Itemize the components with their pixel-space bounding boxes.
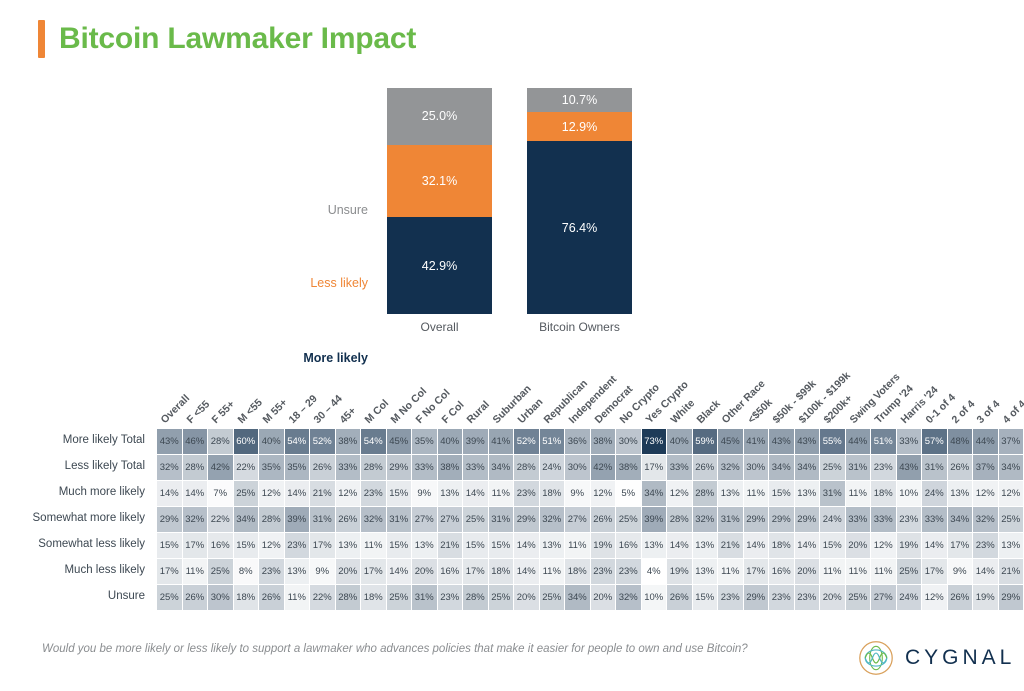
title-accent-bar [38, 20, 45, 58]
heatmap-cell[interactable]: 35% [259, 455, 284, 480]
bar-category-label: Overall [387, 320, 492, 334]
bar-segment-more-likely[interactable]: 42.9% [387, 217, 492, 314]
heatmap-cell[interactable]: 31% [310, 507, 335, 532]
heatmap-cell[interactable]: 34% [795, 455, 820, 480]
heatmap-cell[interactable]: 37% [999, 429, 1024, 454]
heatmap-cell[interactable]: 11% [820, 559, 845, 584]
heatmap-grid: OverallF <55F 55+M <55M 55+18 – 2930 – 4… [156, 427, 1024, 611]
heatmap-cell[interactable]: 31% [412, 585, 437, 610]
heatmap-cell[interactable]: 14% [795, 533, 820, 558]
heatmap-row-label: More likely Total [0, 427, 152, 453]
heatmap-cell[interactable]: 29% [795, 507, 820, 532]
heatmap-cell[interactable]: 12% [999, 481, 1024, 506]
bar-segment-less-likely[interactable]: 32.1% [387, 145, 492, 218]
heatmap-cell[interactable]: 33% [667, 455, 692, 480]
heatmap-cell[interactable]: 25% [616, 507, 641, 532]
heatmap-cell[interactable]: 32% [183, 507, 208, 532]
heatmap-cell[interactable]: 43% [157, 429, 182, 454]
heatmap-cell[interactable]: 31% [387, 507, 412, 532]
heatmap-cell[interactable]: 16% [208, 533, 233, 558]
heatmap-cell[interactable]: 10% [897, 481, 922, 506]
heatmap-cell[interactable]: 30% [208, 585, 233, 610]
waveform-circle-icon [858, 640, 894, 676]
heatmap-col-header-label: M <55 [235, 397, 264, 426]
table-row: 43%46%28%60%40%54%52%38%54%45%35%40%39%4… [157, 429, 1023, 454]
heatmap-cell[interactable]: 14% [744, 533, 769, 558]
bar-group-overall: 25.0% 32.1% 42.9% Overall [387, 88, 492, 314]
heatmap-cell[interactable]: 48% [948, 429, 973, 454]
table-row: 14%14%7%25%12%14%21%12%23%15%9%13%14%11%… [157, 481, 1023, 506]
heatmap-cell[interactable]: 7% [208, 481, 233, 506]
heatmap-cell[interactable]: 22% [310, 585, 335, 610]
heatmap-cell[interactable]: 13% [948, 481, 973, 506]
heatmap-cell[interactable]: 17% [361, 559, 386, 584]
heatmap-cell[interactable]: 51% [540, 429, 565, 454]
heatmap-cell[interactable]: 28% [336, 585, 361, 610]
heatmap-cell[interactable]: 34% [769, 455, 794, 480]
heatmap-cell[interactable]: 29% [514, 507, 539, 532]
title-bar: Bitcoin Lawmaker Impact [38, 20, 416, 58]
heatmap-cell[interactable]: 34% [948, 507, 973, 532]
heatmap-cell[interactable]: 43% [769, 429, 794, 454]
heatmap-cell[interactable]: 9% [310, 559, 335, 584]
heatmap-cell[interactable]: 54% [361, 429, 386, 454]
heatmap-cell[interactable]: 11% [285, 585, 310, 610]
heatmap-cell[interactable]: 20% [591, 585, 616, 610]
heatmap-cell[interactable]: 28% [693, 481, 718, 506]
heatmap-cell[interactable]: 32% [973, 507, 998, 532]
heatmap-cell[interactable]: 26% [310, 455, 335, 480]
heatmap-cell[interactable]: 25% [489, 585, 514, 610]
heatmap-row-label: Much less likely [0, 557, 152, 583]
heatmap-cell[interactable]: 44% [973, 429, 998, 454]
heatmap-cell[interactable]: 20% [336, 559, 361, 584]
heatmap-cell[interactable]: 14% [973, 559, 998, 584]
heatmap-cell[interactable]: 5% [616, 481, 641, 506]
heatmap-cell[interactable]: 15% [489, 533, 514, 558]
bar-value-unsure: 10.7% [562, 93, 597, 107]
heatmap-cell[interactable]: 18% [565, 559, 590, 584]
heatmap-cell[interactable]: 59% [693, 429, 718, 454]
heatmap-cell[interactable]: 13% [438, 481, 463, 506]
heatmap-cell[interactable]: 30% [744, 455, 769, 480]
heatmap-cell[interactable]: 25% [463, 507, 488, 532]
heatmap-col-header-label: Rural [465, 399, 492, 426]
heatmap-cell[interactable]: 14% [922, 533, 947, 558]
heatmap-cell[interactable]: 23% [514, 481, 539, 506]
heatmap-cell[interactable]: 33% [412, 455, 437, 480]
heatmap-cell[interactable]: 17% [744, 559, 769, 584]
heatmap-cell[interactable]: 15% [820, 533, 845, 558]
heatmap-cell[interactable]: 23% [591, 559, 616, 584]
legend-label-less-likely: Less likely [310, 276, 368, 290]
heatmap-cell[interactable]: 38% [438, 455, 463, 480]
heatmap-cell[interactable]: 12% [259, 533, 284, 558]
heatmap-cell[interactable]: 43% [795, 429, 820, 454]
heatmap-cell[interactable]: 31% [718, 507, 743, 532]
heatmap-cell[interactable]: 29% [744, 507, 769, 532]
heatmap-cell[interactable]: 18% [234, 585, 259, 610]
heatmap-cell[interactable]: 33% [897, 429, 922, 454]
heatmap-cell[interactable]: 30% [565, 455, 590, 480]
heatmap-cell[interactable]: 14% [387, 559, 412, 584]
heatmap-cell[interactable]: 18% [769, 533, 794, 558]
heatmap-cell[interactable]: 25% [234, 481, 259, 506]
heatmap-cell[interactable]: 18% [361, 585, 386, 610]
heatmap-cell[interactable]: 26% [948, 585, 973, 610]
heatmap-body: 43%46%28%60%40%54%52%38%54%45%35%40%39%4… [157, 429, 1023, 610]
heatmap-cell[interactable]: 34% [642, 481, 667, 506]
bar-value-less-likely: 32.1% [422, 174, 457, 188]
legend-label-more-likely: More likely [303, 351, 368, 365]
heatmap-cell[interactable]: 31% [922, 455, 947, 480]
heatmap-cell[interactable]: 12% [259, 481, 284, 506]
heatmap-cell[interactable]: 23% [769, 585, 794, 610]
heatmap-cell[interactable]: 43% [897, 455, 922, 480]
legend-label-unsure: Unsure [328, 203, 368, 217]
heatmap-cell[interactable]: 17% [948, 533, 973, 558]
heatmap-cell[interactable]: 11% [565, 533, 590, 558]
heatmap-cell[interactable]: 23% [285, 533, 310, 558]
heatmap-cell[interactable]: 14% [514, 559, 539, 584]
heatmap-cell[interactable]: 30% [616, 429, 641, 454]
question-footnote: Would you be more likely or less likely … [42, 641, 832, 658]
heatmap-cell[interactable]: 34% [234, 507, 259, 532]
heatmap-cell[interactable]: 9% [948, 559, 973, 584]
heatmap-cell[interactable]: 40% [438, 429, 463, 454]
heatmap-cell[interactable]: 38% [336, 429, 361, 454]
heatmap-cell[interactable]: 41% [744, 429, 769, 454]
heatmap-cell[interactable]: 28% [514, 455, 539, 480]
heatmap-cell[interactable]: 14% [463, 481, 488, 506]
heatmap-cell[interactable]: 14% [667, 533, 692, 558]
table-row: 32%28%42%22%35%35%26%33%28%29%33%38%33%3… [157, 455, 1023, 480]
bar-value-more-likely: 42.9% [422, 259, 457, 273]
heatmap-cell[interactable]: 12% [336, 481, 361, 506]
heatmap-cell[interactable]: 21% [718, 533, 743, 558]
heatmap-cell[interactable]: 15% [463, 533, 488, 558]
heatmap-cell[interactable]: 11% [846, 481, 871, 506]
heatmap-cell[interactable]: 33% [336, 455, 361, 480]
heatmap-cell[interactable]: 13% [693, 559, 718, 584]
heatmap-cell[interactable]: 8% [234, 559, 259, 584]
heatmap-cell[interactable]: 23% [871, 455, 896, 480]
heatmap-cell[interactable]: 26% [259, 585, 284, 610]
heatmap-cell[interactable]: 26% [183, 585, 208, 610]
heatmap-cell[interactable]: 45% [387, 429, 412, 454]
heatmap-cell[interactable]: 24% [820, 507, 845, 532]
heatmap-cell[interactable]: 11% [540, 559, 565, 584]
stacked-bar-chart: Unsure Less likely More likely 25.0% 32.… [250, 88, 770, 338]
heatmap-cell[interactable]: 15% [387, 533, 412, 558]
bar-segment-unsure[interactable]: 25.0% [387, 88, 492, 145]
heatmap-cell[interactable]: 15% [157, 533, 182, 558]
table-row: 29%32%22%34%28%39%31%26%32%31%27%27%25%3… [157, 507, 1023, 532]
heatmap-col-header-label: F 55+ [210, 398, 238, 426]
heatmap-col-header-label: 4 of 4 [1000, 398, 1024, 426]
heatmap-cell[interactable]: 12% [871, 533, 896, 558]
heatmap-cell[interactable]: 39% [642, 507, 667, 532]
heatmap-cell[interactable]: 27% [871, 585, 896, 610]
heatmap-cell[interactable]: 31% [820, 481, 845, 506]
heatmap-cell[interactable]: 23% [616, 559, 641, 584]
table-row: 15%17%16%15%12%23%17%13%11%15%13%21%15%1… [157, 533, 1023, 558]
heatmap-cell[interactable]: 16% [769, 559, 794, 584]
heatmap-cell[interactable]: 23% [897, 507, 922, 532]
heatmap-cell[interactable]: 23% [259, 559, 284, 584]
heatmap-cell[interactable]: 37% [973, 455, 998, 480]
table-row: 17%11%25%8%23%13%9%20%17%14%20%16%17%18%… [157, 559, 1023, 584]
heatmap-cell[interactable]: 31% [489, 507, 514, 532]
heatmap-cell[interactable]: 19% [667, 559, 692, 584]
heatmap-cell[interactable]: 25% [157, 585, 182, 610]
heatmap-cell[interactable]: 42% [208, 455, 233, 480]
heatmap-cell[interactable]: 18% [540, 481, 565, 506]
bar-category-label: Bitcoin Owners [527, 320, 632, 334]
heatmap-cell[interactable]: 25% [540, 585, 565, 610]
heatmap-cell[interactable]: 46% [183, 429, 208, 454]
heatmap-cell[interactable]: 22% [234, 455, 259, 480]
page-title: Bitcoin Lawmaker Impact [59, 22, 416, 56]
heatmap-cell[interactable]: 32% [718, 455, 743, 480]
heatmap-cell[interactable]: 12% [591, 481, 616, 506]
heatmap-cell[interactable]: 19% [897, 533, 922, 558]
heatmap-cell[interactable]: 25% [846, 585, 871, 610]
heatmap-cell[interactable]: 22% [208, 507, 233, 532]
heatmap-cell[interactable]: 25% [897, 559, 922, 584]
heatmap-cell[interactable]: 17% [183, 533, 208, 558]
heatmap-cell[interactable]: 18% [871, 481, 896, 506]
heatmap-cell[interactable]: 4% [642, 559, 667, 584]
heatmap-cell[interactable]: 12% [667, 481, 692, 506]
heatmap-cell[interactable]: 33% [922, 507, 947, 532]
heatmap-cell[interactable]: 32% [361, 507, 386, 532]
heatmap-row-label: Somewhat more likely [0, 505, 152, 531]
heatmap-cell[interactable]: 52% [310, 429, 335, 454]
bar-segment-unsure[interactable]: 10.7% [527, 88, 632, 112]
heatmap-cell[interactable]: 15% [234, 533, 259, 558]
heatmap-cell[interactable]: 34% [489, 455, 514, 480]
bar-segment-less-likely[interactable]: 12.9% [527, 112, 632, 141]
heatmap-cell[interactable]: 26% [693, 455, 718, 480]
heatmap-cell[interactable]: 13% [412, 533, 437, 558]
heatmap-cell[interactable]: 40% [667, 429, 692, 454]
heatmap-row-label: Unsure [0, 583, 152, 609]
heatmap-cell[interactable]: 11% [183, 559, 208, 584]
heatmap-cell[interactable]: 28% [361, 455, 386, 480]
heatmap-cell[interactable]: 41% [489, 429, 514, 454]
heatmap-cell[interactable]: 28% [667, 507, 692, 532]
heatmap-cell[interactable]: 23% [718, 585, 743, 610]
heatmap-cell[interactable]: 15% [693, 585, 718, 610]
heatmap-cell[interactable]: 36% [565, 429, 590, 454]
brand-logo: CYGNAL [858, 640, 1015, 676]
bar-group-bitcoin-owners: 10.7% 12.9% 76.4% Bitcoin Owners [527, 88, 632, 314]
heatmap-cell[interactable]: 10% [642, 585, 667, 610]
heatmap-cell[interactable]: 13% [336, 533, 361, 558]
heatmap-cell[interactable]: 17% [157, 559, 182, 584]
heatmap-row-label: Less likely Total [0, 453, 152, 479]
heatmap-cell[interactable]: 40% [259, 429, 284, 454]
series-legend: Unsure Less likely More likely [250, 88, 368, 318]
heatmap-cell[interactable]: 33% [846, 507, 871, 532]
heatmap-cell[interactable]: 54% [285, 429, 310, 454]
heatmap-cell[interactable]: 25% [999, 507, 1024, 532]
heatmap-cell[interactable]: 28% [208, 429, 233, 454]
heatmap-table: OverallF <55F 55+M <55M 55+18 – 2930 – 4… [156, 427, 1024, 611]
heatmap-cell[interactable]: 13% [693, 533, 718, 558]
heatmap-cell[interactable]: 73% [642, 429, 667, 454]
table-row: 25%26%30%18%26%11%22%28%18%25%31%23%28%2… [157, 585, 1023, 610]
heatmap-cell[interactable]: 25% [387, 585, 412, 610]
heatmap-cell[interactable]: 9% [412, 481, 437, 506]
heatmap-cell[interactable]: 21% [310, 481, 335, 506]
heatmap-cell[interactable]: 29% [157, 507, 182, 532]
heatmap-col-header-label: 3 of 4 [975, 398, 1003, 426]
heatmap-cell[interactable]: 14% [183, 481, 208, 506]
heatmap-cell[interactable]: 29% [744, 585, 769, 610]
heatmap-cell[interactable]: 20% [820, 585, 845, 610]
heatmap-cell[interactable]: 11% [361, 533, 386, 558]
heatmap-cell[interactable]: 26% [667, 585, 692, 610]
heatmap-cell[interactable]: 29% [999, 585, 1024, 610]
heatmap-cell[interactable]: 13% [999, 533, 1024, 558]
heatmap-cell[interactable]: 26% [948, 455, 973, 480]
heatmap-cell[interactable]: 39% [463, 429, 488, 454]
heatmap-cell[interactable]: 52% [514, 429, 539, 454]
heatmap-cell[interactable]: 57% [922, 429, 947, 454]
heatmap-cell[interactable]: 13% [718, 481, 743, 506]
heatmap-cell[interactable]: 23% [361, 481, 386, 506]
heatmap-cell[interactable]: 35% [412, 429, 437, 454]
heatmap-cell[interactable]: 29% [769, 507, 794, 532]
heatmap-cell[interactable]: 12% [973, 481, 998, 506]
heatmap-cell[interactable]: 9% [565, 481, 590, 506]
heatmap-cell[interactable]: 32% [616, 585, 641, 610]
heatmap-cell[interactable]: 20% [514, 585, 539, 610]
heatmap-cell[interactable]: 19% [973, 585, 998, 610]
heatmap-cell[interactable]: 28% [259, 507, 284, 532]
heatmap-cell[interactable]: 17% [310, 533, 335, 558]
heatmap-cell[interactable]: 17% [463, 559, 488, 584]
heatmap-cell[interactable]: 15% [769, 481, 794, 506]
heatmap-cell[interactable]: 51% [871, 429, 896, 454]
heatmap-cell[interactable]: 28% [183, 455, 208, 480]
heatmap-cell[interactable]: 38% [616, 455, 641, 480]
heatmap-cell[interactable]: 12% [922, 585, 947, 610]
heatmap-col-header-label: M Col [363, 397, 392, 426]
heatmap-cell[interactable]: 28% [463, 585, 488, 610]
heatmap-cell[interactable]: 34% [999, 455, 1024, 480]
heatmap-cell[interactable]: 32% [693, 507, 718, 532]
heatmap-cell[interactable]: 24% [897, 585, 922, 610]
heatmap-cell[interactable]: 21% [999, 559, 1024, 584]
heatmap-cell[interactable]: 38% [591, 429, 616, 454]
heatmap-cell[interactable]: 32% [540, 507, 565, 532]
brand-name: CYGNAL [905, 646, 1015, 670]
heatmap-cell[interactable]: 11% [744, 481, 769, 506]
heatmap-cell[interactable]: 31% [846, 455, 871, 480]
heatmap-cell[interactable]: 27% [438, 507, 463, 532]
heatmap-col-header-label: 45+ [337, 405, 358, 426]
heatmap-cell[interactable]: 16% [438, 559, 463, 584]
heatmap-cell[interactable]: 55% [820, 429, 845, 454]
heatmap-cell[interactable]: 13% [642, 533, 667, 558]
heatmap-cell[interactable]: 11% [718, 559, 743, 584]
bar-column: 25.0% 32.1% 42.9% [387, 88, 492, 314]
heatmap-row-label: Much more likely [0, 479, 152, 505]
heatmap-cell[interactable]: 14% [285, 481, 310, 506]
bar-segment-more-likely[interactable]: 76.4% [527, 141, 632, 314]
heatmap-cell[interactable]: 19% [591, 533, 616, 558]
heatmap-cell[interactable]: 25% [208, 559, 233, 584]
heatmap-cell[interactable]: 14% [157, 481, 182, 506]
heatmap-cell[interactable]: 11% [489, 481, 514, 506]
heatmap-col-header-label: M 55+ [261, 397, 290, 426]
heatmap-cell[interactable]: 20% [846, 533, 871, 558]
heatmap-cell[interactable]: 16% [616, 533, 641, 558]
heatmap-cell[interactable]: 23% [973, 533, 998, 558]
heatmap-cell[interactable]: 26% [591, 507, 616, 532]
bar-value-less-likely: 12.9% [562, 120, 597, 134]
heatmap-cell[interactable]: 13% [540, 533, 565, 558]
heatmap-cell[interactable]: 34% [565, 585, 590, 610]
heatmap-cell[interactable]: 24% [922, 481, 947, 506]
heatmap-cell[interactable]: 29% [387, 455, 412, 480]
heatmap-cell[interactable]: 11% [871, 559, 896, 584]
heatmap-cell[interactable]: 44% [846, 429, 871, 454]
heatmap-cell[interactable]: 33% [463, 455, 488, 480]
heatmap-cell[interactable]: 17% [642, 455, 667, 480]
heatmap-cell[interactable]: 27% [565, 507, 590, 532]
heatmap-cell[interactable]: 33% [871, 507, 896, 532]
heatmap-cell[interactable]: 25% [820, 455, 845, 480]
heatmap-cell[interactable]: 27% [412, 507, 437, 532]
bar-value-unsure: 25.0% [422, 109, 457, 123]
heatmap-cell[interactable]: 26% [336, 507, 361, 532]
heatmap-cell[interactable]: 42% [591, 455, 616, 480]
heatmap-cell[interactable]: 20% [412, 559, 437, 584]
heatmap-cell[interactable]: 14% [514, 533, 539, 558]
heatmap-col-header-label: Black [694, 398, 722, 426]
heatmap-cell[interactable]: 35% [285, 455, 310, 480]
heatmap-row-labels: More likely TotalLess likely TotalMuch m… [0, 427, 152, 609]
heatmap-cell[interactable]: 39% [285, 507, 310, 532]
heatmap-cell[interactable]: 17% [922, 559, 947, 584]
heatmap-cell[interactable]: 24% [540, 455, 565, 480]
bar-value-more-likely: 76.4% [562, 221, 597, 235]
heatmap-cell[interactable]: 23% [795, 585, 820, 610]
heatmap-cell[interactable]: 13% [285, 559, 310, 584]
heatmap-cell[interactable]: 15% [387, 481, 412, 506]
heatmap-cell[interactable]: 13% [795, 481, 820, 506]
heatmap-cell[interactable]: 18% [489, 559, 514, 584]
bar-column: 10.7% 12.9% 76.4% [527, 88, 632, 314]
heatmap-cell[interactable]: 45% [718, 429, 743, 454]
heatmap-cell[interactable]: 11% [846, 559, 871, 584]
heatmap-cell[interactable]: 60% [234, 429, 259, 454]
heatmap-cell[interactable]: 23% [438, 585, 463, 610]
heatmap-cell[interactable]: 20% [795, 559, 820, 584]
heatmap-cell[interactable]: 32% [157, 455, 182, 480]
heatmap-cell[interactable]: 21% [438, 533, 463, 558]
heatmap-row-label: Somewhat less likely [0, 531, 152, 557]
